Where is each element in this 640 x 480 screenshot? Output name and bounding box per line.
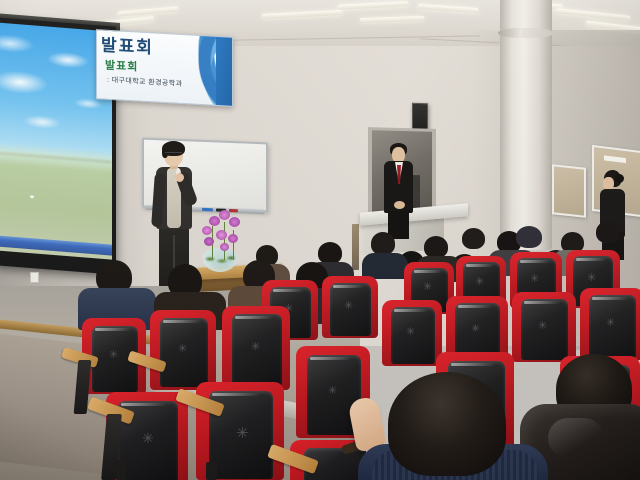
seat-highlight xyxy=(520,260,550,263)
seat-highlight xyxy=(333,285,364,288)
seat-highlight xyxy=(163,320,201,323)
seat-emblem: ✳ xyxy=(251,342,260,352)
seat-highlight xyxy=(576,258,606,261)
ceiling-light xyxy=(338,1,408,10)
auditorium-seat[interactable]: ✳ xyxy=(222,306,290,390)
seat-highlight xyxy=(235,316,273,319)
seat-emblem: ✳ xyxy=(328,386,337,396)
seat-highlight xyxy=(451,363,495,366)
seat-emblem: ✳ xyxy=(344,301,353,311)
leather-sheen xyxy=(548,418,604,458)
audience-head-with-cap xyxy=(516,226,542,248)
seat-emblem: ✳ xyxy=(471,324,480,334)
banner-blue-bar xyxy=(216,37,232,106)
seat-emblem: ✳ xyxy=(236,428,249,438)
seat-highlight xyxy=(592,297,628,300)
auditorium-photo: 발표회 발표회 : 대구대학교 환경공학과 xyxy=(0,0,640,480)
auditorium-seat[interactable]: ✳ xyxy=(150,310,216,390)
ceiling-light xyxy=(360,16,424,23)
seat-leg xyxy=(206,462,217,480)
eyeglasses-icon xyxy=(165,152,182,157)
seat-highlight xyxy=(95,328,131,331)
banner-title: 발표회 xyxy=(101,36,154,57)
seat-highlight xyxy=(458,305,492,308)
seat-highlight xyxy=(121,403,167,406)
projected-horizon xyxy=(0,151,112,163)
bulletin-board xyxy=(552,164,586,218)
seat-emblem: ✳ xyxy=(109,350,118,360)
seat-emblem: ✳ xyxy=(606,318,615,328)
seat-highlight xyxy=(466,264,494,267)
ceiling-light xyxy=(118,6,178,16)
projected-cursor xyxy=(30,195,34,198)
foreground-person-head xyxy=(388,372,506,476)
seat-highlight xyxy=(524,301,560,304)
seat-highlight xyxy=(273,289,304,292)
event-banner: 발표회 발표회 : 대구대학교 환경공학과 xyxy=(96,29,233,107)
seat-emblem: ✳ xyxy=(142,434,154,444)
seat-emblem: ✳ xyxy=(475,277,484,287)
ceiling-light xyxy=(262,10,342,19)
ceiling-light xyxy=(556,8,630,21)
seat-highlight xyxy=(414,270,442,273)
seat-highlight xyxy=(310,357,352,360)
banner-subtitle: 발표회 xyxy=(105,57,138,75)
seat-emblem: ✳ xyxy=(530,274,539,284)
seat-emblem: ✳ xyxy=(406,327,415,337)
auditorium-seat[interactable]: ✳ xyxy=(512,292,576,362)
seat-emblem: ✳ xyxy=(538,321,547,331)
seat-highlight xyxy=(394,309,428,312)
ceiling-light xyxy=(418,4,478,13)
seat-highlight xyxy=(212,393,260,396)
auditorium-seat[interactable]: ✳ xyxy=(382,300,442,366)
seat-emblem: ✳ xyxy=(178,344,187,354)
hand xyxy=(175,173,184,182)
audience-head xyxy=(596,221,620,243)
clasped-hands xyxy=(394,201,405,209)
auditorium-seat[interactable]: ✳ xyxy=(580,288,640,360)
hair-bun xyxy=(615,174,624,183)
seat-emblem: ✳ xyxy=(587,273,596,283)
seat-emblem: ✳ xyxy=(423,282,432,292)
column-capital xyxy=(498,28,554,38)
seat-leg xyxy=(116,460,126,480)
auditorium-seat[interactable]: ✳ xyxy=(322,276,378,338)
posted-notice xyxy=(604,155,626,163)
orchid-bloom xyxy=(219,210,230,220)
